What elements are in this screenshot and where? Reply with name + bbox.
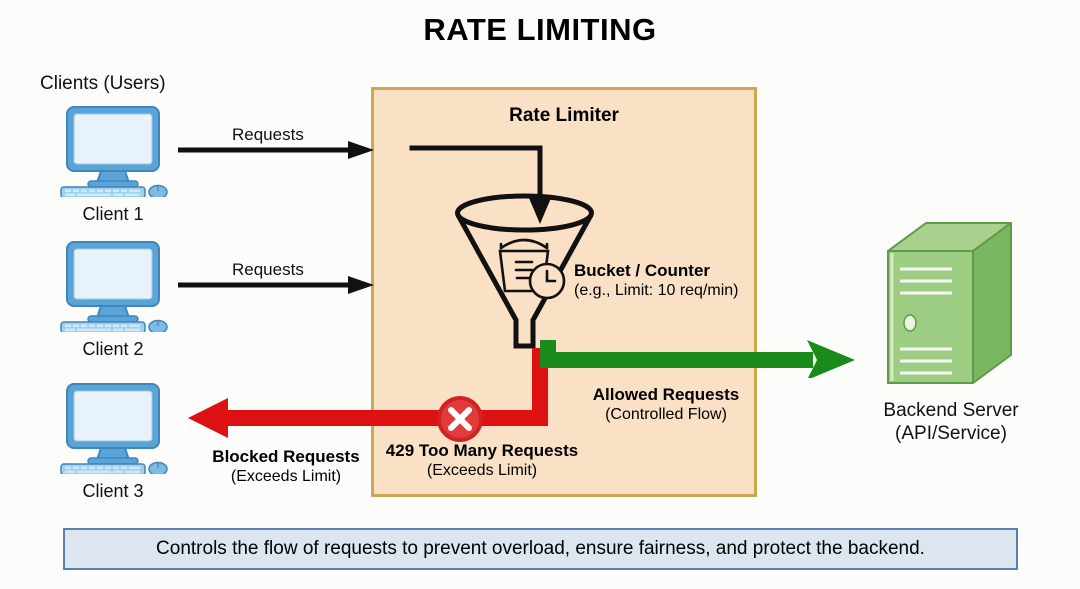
request-arrow-label-1: Requests: [232, 125, 304, 145]
allowed-requests-title: Allowed Requests: [566, 385, 766, 405]
rejection-code-title: 429 Too Many Requests: [382, 441, 582, 461]
desktop-computer-icon: [49, 240, 177, 332]
server-tower-icon: [880, 215, 1020, 395]
blocked-requests-subtitle: (Exceeds Limit): [186, 468, 386, 486]
desktop-computer-icon: [49, 382, 177, 474]
rate-limiter-title: Rate Limiter: [371, 105, 757, 127]
client-node-1: Client 1: [49, 105, 177, 225]
rejection-code-subtitle: (Exceeds Limit): [382, 462, 582, 480]
allowed-requests-label: Allowed Requests (Controlled Flow): [566, 385, 766, 424]
server-caption: Backend Server (API/Service): [841, 400, 1061, 445]
bucket-counter-label: Bucket / Counter (e.g., Limit: 10 req/mi…: [574, 261, 774, 300]
blocked-flow-arrow: [180, 330, 580, 440]
allowed-requests-subtitle: (Controlled Flow): [566, 406, 766, 424]
clients-heading: Clients (Users): [40, 73, 260, 95]
blocked-requests-title: Blocked Requests: [186, 447, 386, 467]
client-caption: Client 2: [49, 339, 177, 360]
summary-banner: Controls the flow of requests to prevent…: [63, 528, 1018, 570]
client-node-2: Client 2: [49, 240, 177, 360]
blocked-requests-label: Blocked Requests (Exceeds Limit): [186, 447, 386, 486]
summary-banner-text: Controls the flow of requests to prevent…: [156, 538, 925, 560]
bucket-counter-limit: (e.g., Limit: 10 req/min): [574, 282, 774, 300]
allowed-flow-arrow: [525, 338, 865, 378]
bucket-counter-title: Bucket / Counter: [574, 261, 774, 281]
red-x-circle-icon: [435, 394, 485, 444]
request-arrow-label-2: Requests: [232, 260, 304, 280]
client-caption: Client 3: [49, 481, 177, 502]
desktop-computer-icon: [49, 105, 177, 197]
server-caption-line2: (API/Service): [841, 423, 1061, 445]
rejection-code-label: 429 Too Many Requests (Exceeds Limit): [382, 441, 582, 480]
client-node-3: Client 3: [49, 382, 177, 502]
funnel-icon: [400, 140, 640, 355]
server-caption-line1: Backend Server: [841, 400, 1061, 422]
diagram-canvas: RATE LIMITING Clients (Users) Client 1: [0, 0, 1080, 589]
page-title: RATE LIMITING: [0, 12, 1080, 48]
client-caption: Client 1: [49, 204, 177, 225]
